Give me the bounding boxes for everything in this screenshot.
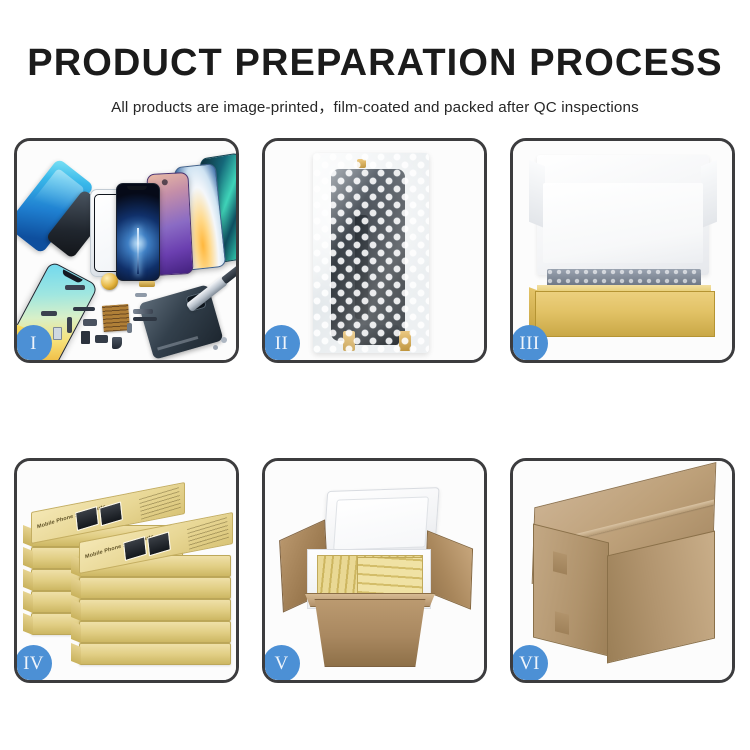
kraft-inner-box-icon — [535, 291, 715, 337]
kraft-box — [79, 599, 231, 621]
step-badge-6: VI — [511, 645, 548, 682]
components-flatlay-photo — [17, 141, 236, 360]
small-part-icon — [41, 311, 57, 316]
spec-lines — [139, 486, 181, 519]
page-title: PRODUCT PREPARATION PROCESS — [0, 0, 750, 82]
kraft-box — [79, 577, 231, 599]
foam-carton-packing-photo — [265, 461, 484, 680]
small-part-icon — [213, 345, 218, 350]
small-part-icon — [81, 331, 90, 344]
spec-lines — [187, 516, 229, 549]
process-step-4: Mobile Phone Spare Parts Mobile Phone Sp… — [14, 458, 239, 683]
step-badge-1: I — [15, 325, 52, 362]
open-carton-icon — [307, 599, 433, 667]
carton-left-face — [533, 524, 609, 657]
step-badge-2: II — [263, 325, 300, 362]
small-part-icon — [135, 293, 147, 297]
inner-box-packing-photo — [513, 141, 732, 360]
small-part-icon — [95, 335, 108, 343]
header: PRODUCT PREPARATION PROCESS All products… — [0, 0, 750, 117]
sealed-carton-photo — [513, 461, 732, 680]
page-subtitle: All products are image-printed，film-coat… — [0, 82, 750, 117]
kraft-box — [79, 621, 231, 643]
gold-camera-ring-icon — [101, 273, 118, 290]
chip-grid-icon — [102, 304, 130, 332]
small-part-icon — [221, 337, 227, 343]
white-lid-face — [543, 183, 703, 263]
kraft-box — [79, 643, 231, 665]
product-preparation-infographic: PRODUCT PREPARATION PROCESS All products… — [0, 0, 750, 750]
small-part-icon — [139, 281, 155, 287]
step-badge-5: V — [263, 645, 300, 682]
process-step-3: III — [510, 138, 735, 363]
process-step-grid: I II — [14, 138, 736, 683]
product-window — [123, 536, 147, 561]
small-part-icon — [67, 317, 72, 333]
small-part-icon — [127, 323, 132, 333]
process-step-1: I — [14, 138, 239, 363]
corner-tape — [553, 551, 567, 574]
process-step-2: II — [262, 138, 487, 363]
step-badge-4: IV — [15, 645, 52, 682]
small-part-icon — [65, 285, 85, 290]
small-part-icon — [112, 337, 122, 349]
process-step-5: V — [262, 458, 487, 683]
kraft-box-stack-icon: Mobile Phone Spare Parts Mobile Phone Sp… — [21, 479, 236, 671]
bubble-wrapped-part-photo — [265, 141, 484, 360]
bubble-wrap-bag-icon — [313, 153, 429, 353]
process-step-6: VI — [510, 458, 735, 683]
corner-tape — [555, 611, 569, 634]
dark-wallpaper-phone-icon — [116, 183, 160, 281]
small-part-icon — [53, 327, 62, 340]
product-window — [75, 506, 99, 531]
small-part-icon — [133, 309, 153, 314]
small-part-icon — [83, 319, 97, 326]
step-badge-3: III — [511, 325, 548, 362]
boxed-stack-photo: Mobile Phone Spare Parts Mobile Phone Sp… — [17, 461, 236, 680]
small-part-icon — [133, 317, 157, 321]
small-part-icon — [73, 307, 95, 311]
plastic-sheen — [313, 153, 429, 353]
